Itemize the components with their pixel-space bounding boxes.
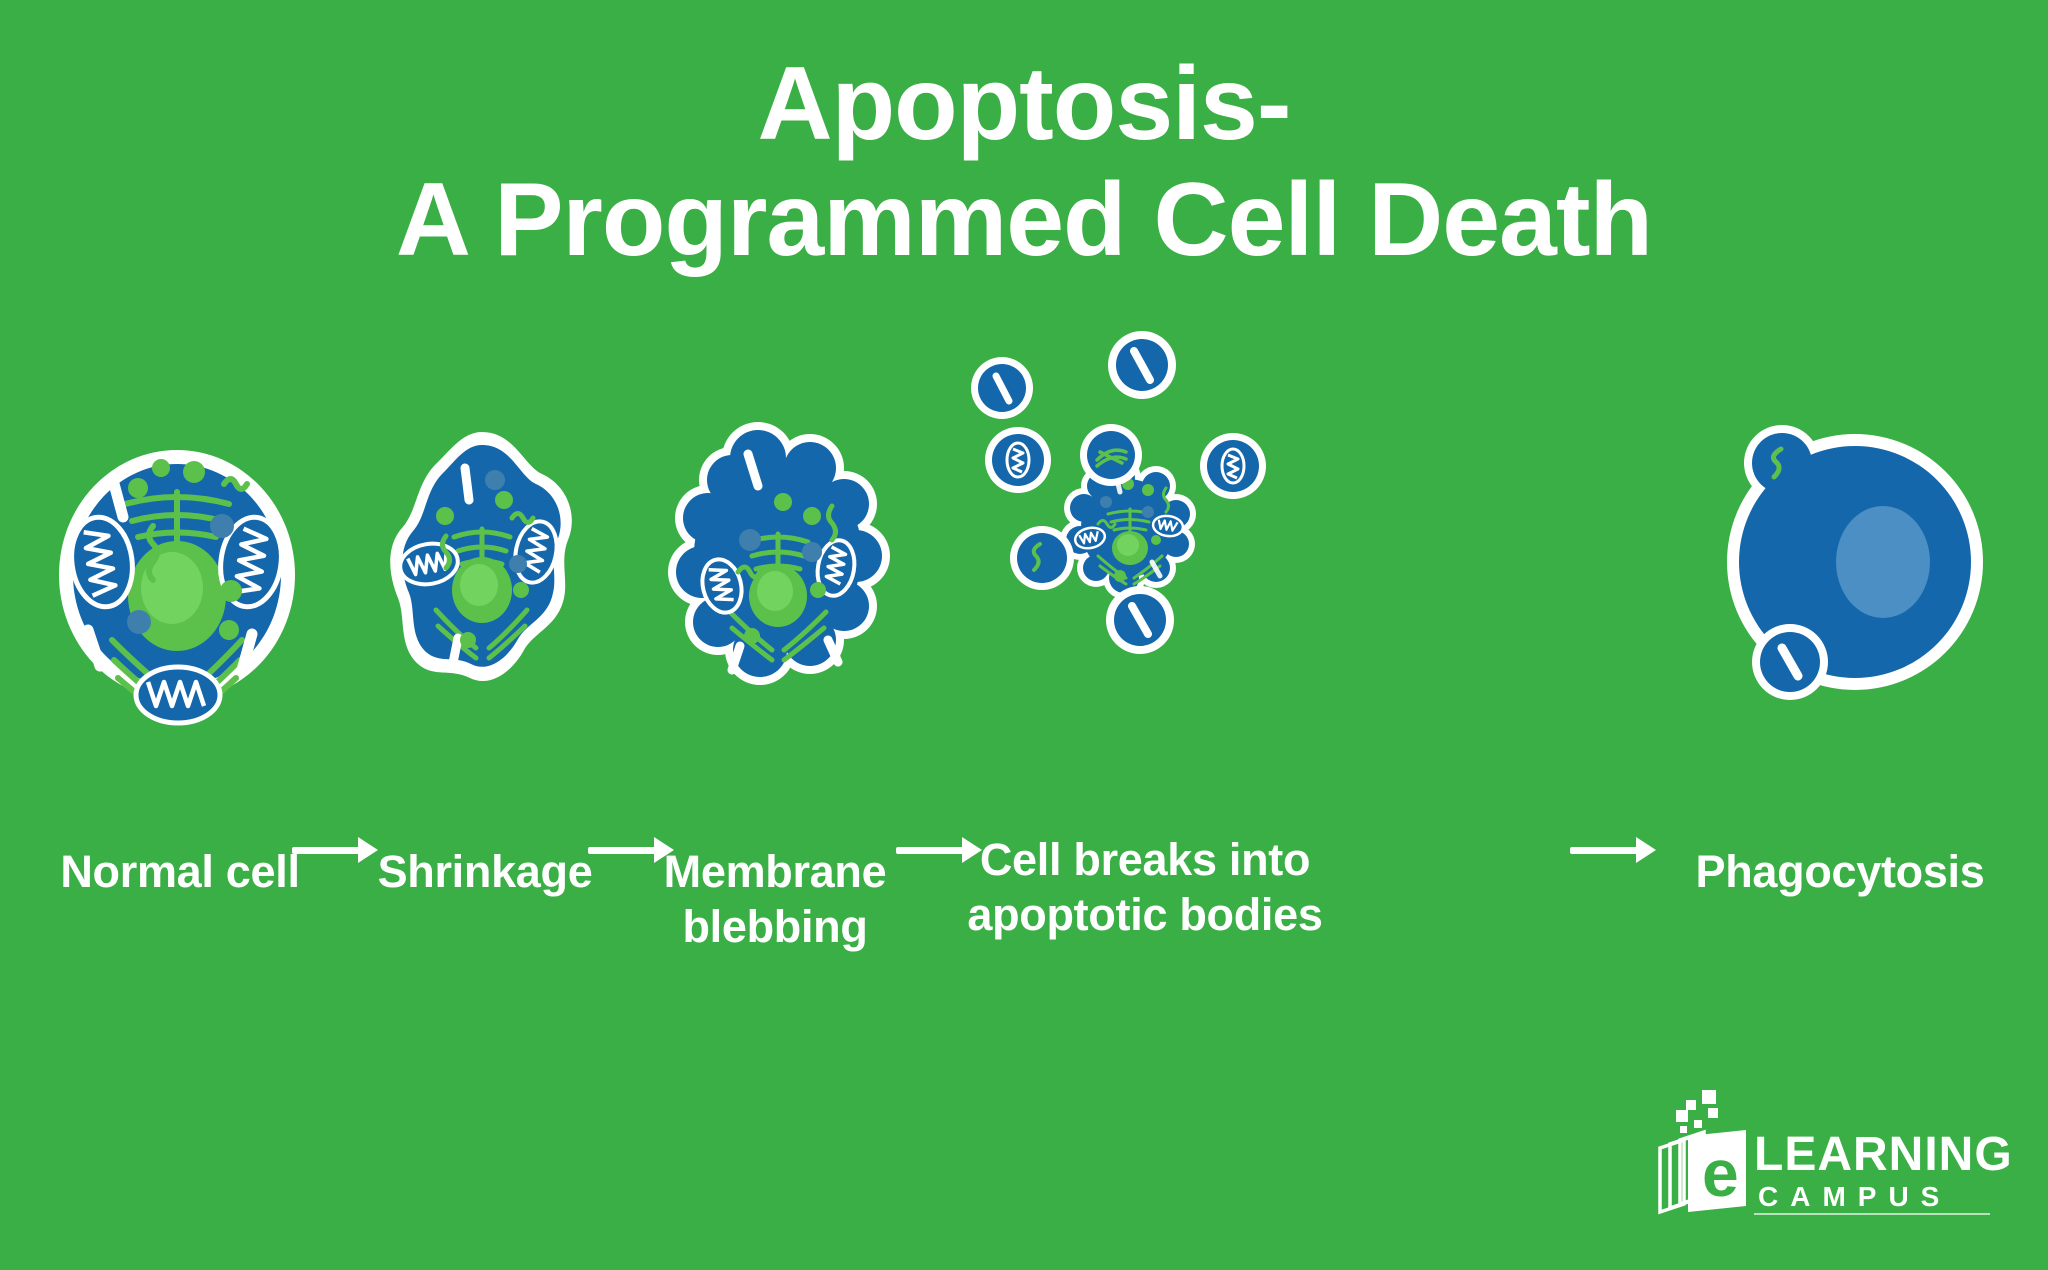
- label-normal-cell: Normal cell: [30, 845, 330, 900]
- label-line-2: apoptotic bodies: [967, 889, 1322, 940]
- nucleolus-icon: [460, 564, 498, 606]
- logo-secondary-text: CAMPUS: [1758, 1181, 1951, 1212]
- label-apoptotic-bodies: Cell breaks into apoptotic bodies: [930, 833, 1360, 943]
- apoptotic-body: [1200, 433, 1266, 499]
- apoptotic-bodies-illustration: [971, 331, 1266, 654]
- apoptotic-body: [1010, 526, 1074, 590]
- pixel-squares-icon: [1676, 1090, 1718, 1133]
- elearning-campus-logo[interactable]: e LEARNING CAMPUS: [1650, 1084, 2010, 1234]
- mitochondrion-bottom-icon: [136, 667, 220, 723]
- stage-membrane-blebbing[interactable]: [660, 340, 900, 800]
- title-line-2: A Programmed Cell Death: [0, 162, 2048, 278]
- blebbing-cell-illustration: [668, 422, 890, 685]
- stage-apoptotic-bodies[interactable]: [980, 300, 1320, 820]
- nucleolus-icon: [757, 571, 793, 611]
- normal-cell-illustration: [59, 450, 295, 723]
- logo-e-mark: e: [1702, 1136, 1739, 1210]
- label-shrinkage: Shrinkage: [340, 845, 630, 900]
- shrinkage-cell-illustration: [390, 432, 572, 681]
- apoptosis-diagram: [0, 340, 2048, 800]
- label-membrane-blebbing: Membrane blebbing: [625, 845, 925, 955]
- phagocytosis-illustration: [1727, 425, 1983, 700]
- label-phagocytosis: Phagocytosis: [1640, 845, 2040, 900]
- apoptotic-body: [1106, 586, 1174, 654]
- page-title: Apoptosis- A Programmed Cell Death: [0, 46, 2048, 279]
- infographic-canvas: Apoptosis- A Programmed Cell Death: [0, 0, 2048, 1270]
- label-line-2: blebbing: [682, 901, 867, 952]
- nucleolus-icon: [1117, 534, 1139, 556]
- logo-primary-text: LEARNING: [1754, 1128, 2013, 1181]
- title-line-1: Apoptosis-: [0, 46, 2048, 162]
- phagocyte-nucleus: [1836, 506, 1930, 618]
- apoptotic-body: [1080, 424, 1142, 486]
- apoptotic-body: [971, 357, 1033, 419]
- stage-shrinkage[interactable]: [372, 340, 592, 800]
- attached-apoptotic-body: [1752, 433, 1812, 493]
- label-line-1: Membrane: [664, 846, 887, 897]
- stage-labels: Normal cell Shrinkage Membrane blebbing …: [0, 845, 2048, 995]
- label-line-1: Cell breaks into: [980, 834, 1310, 885]
- apoptotic-body: [1108, 331, 1176, 399]
- apoptotic-body: [985, 427, 1051, 493]
- stage-normal-cell[interactable]: [52, 340, 302, 800]
- stage-phagocytosis[interactable]: [1720, 340, 1980, 800]
